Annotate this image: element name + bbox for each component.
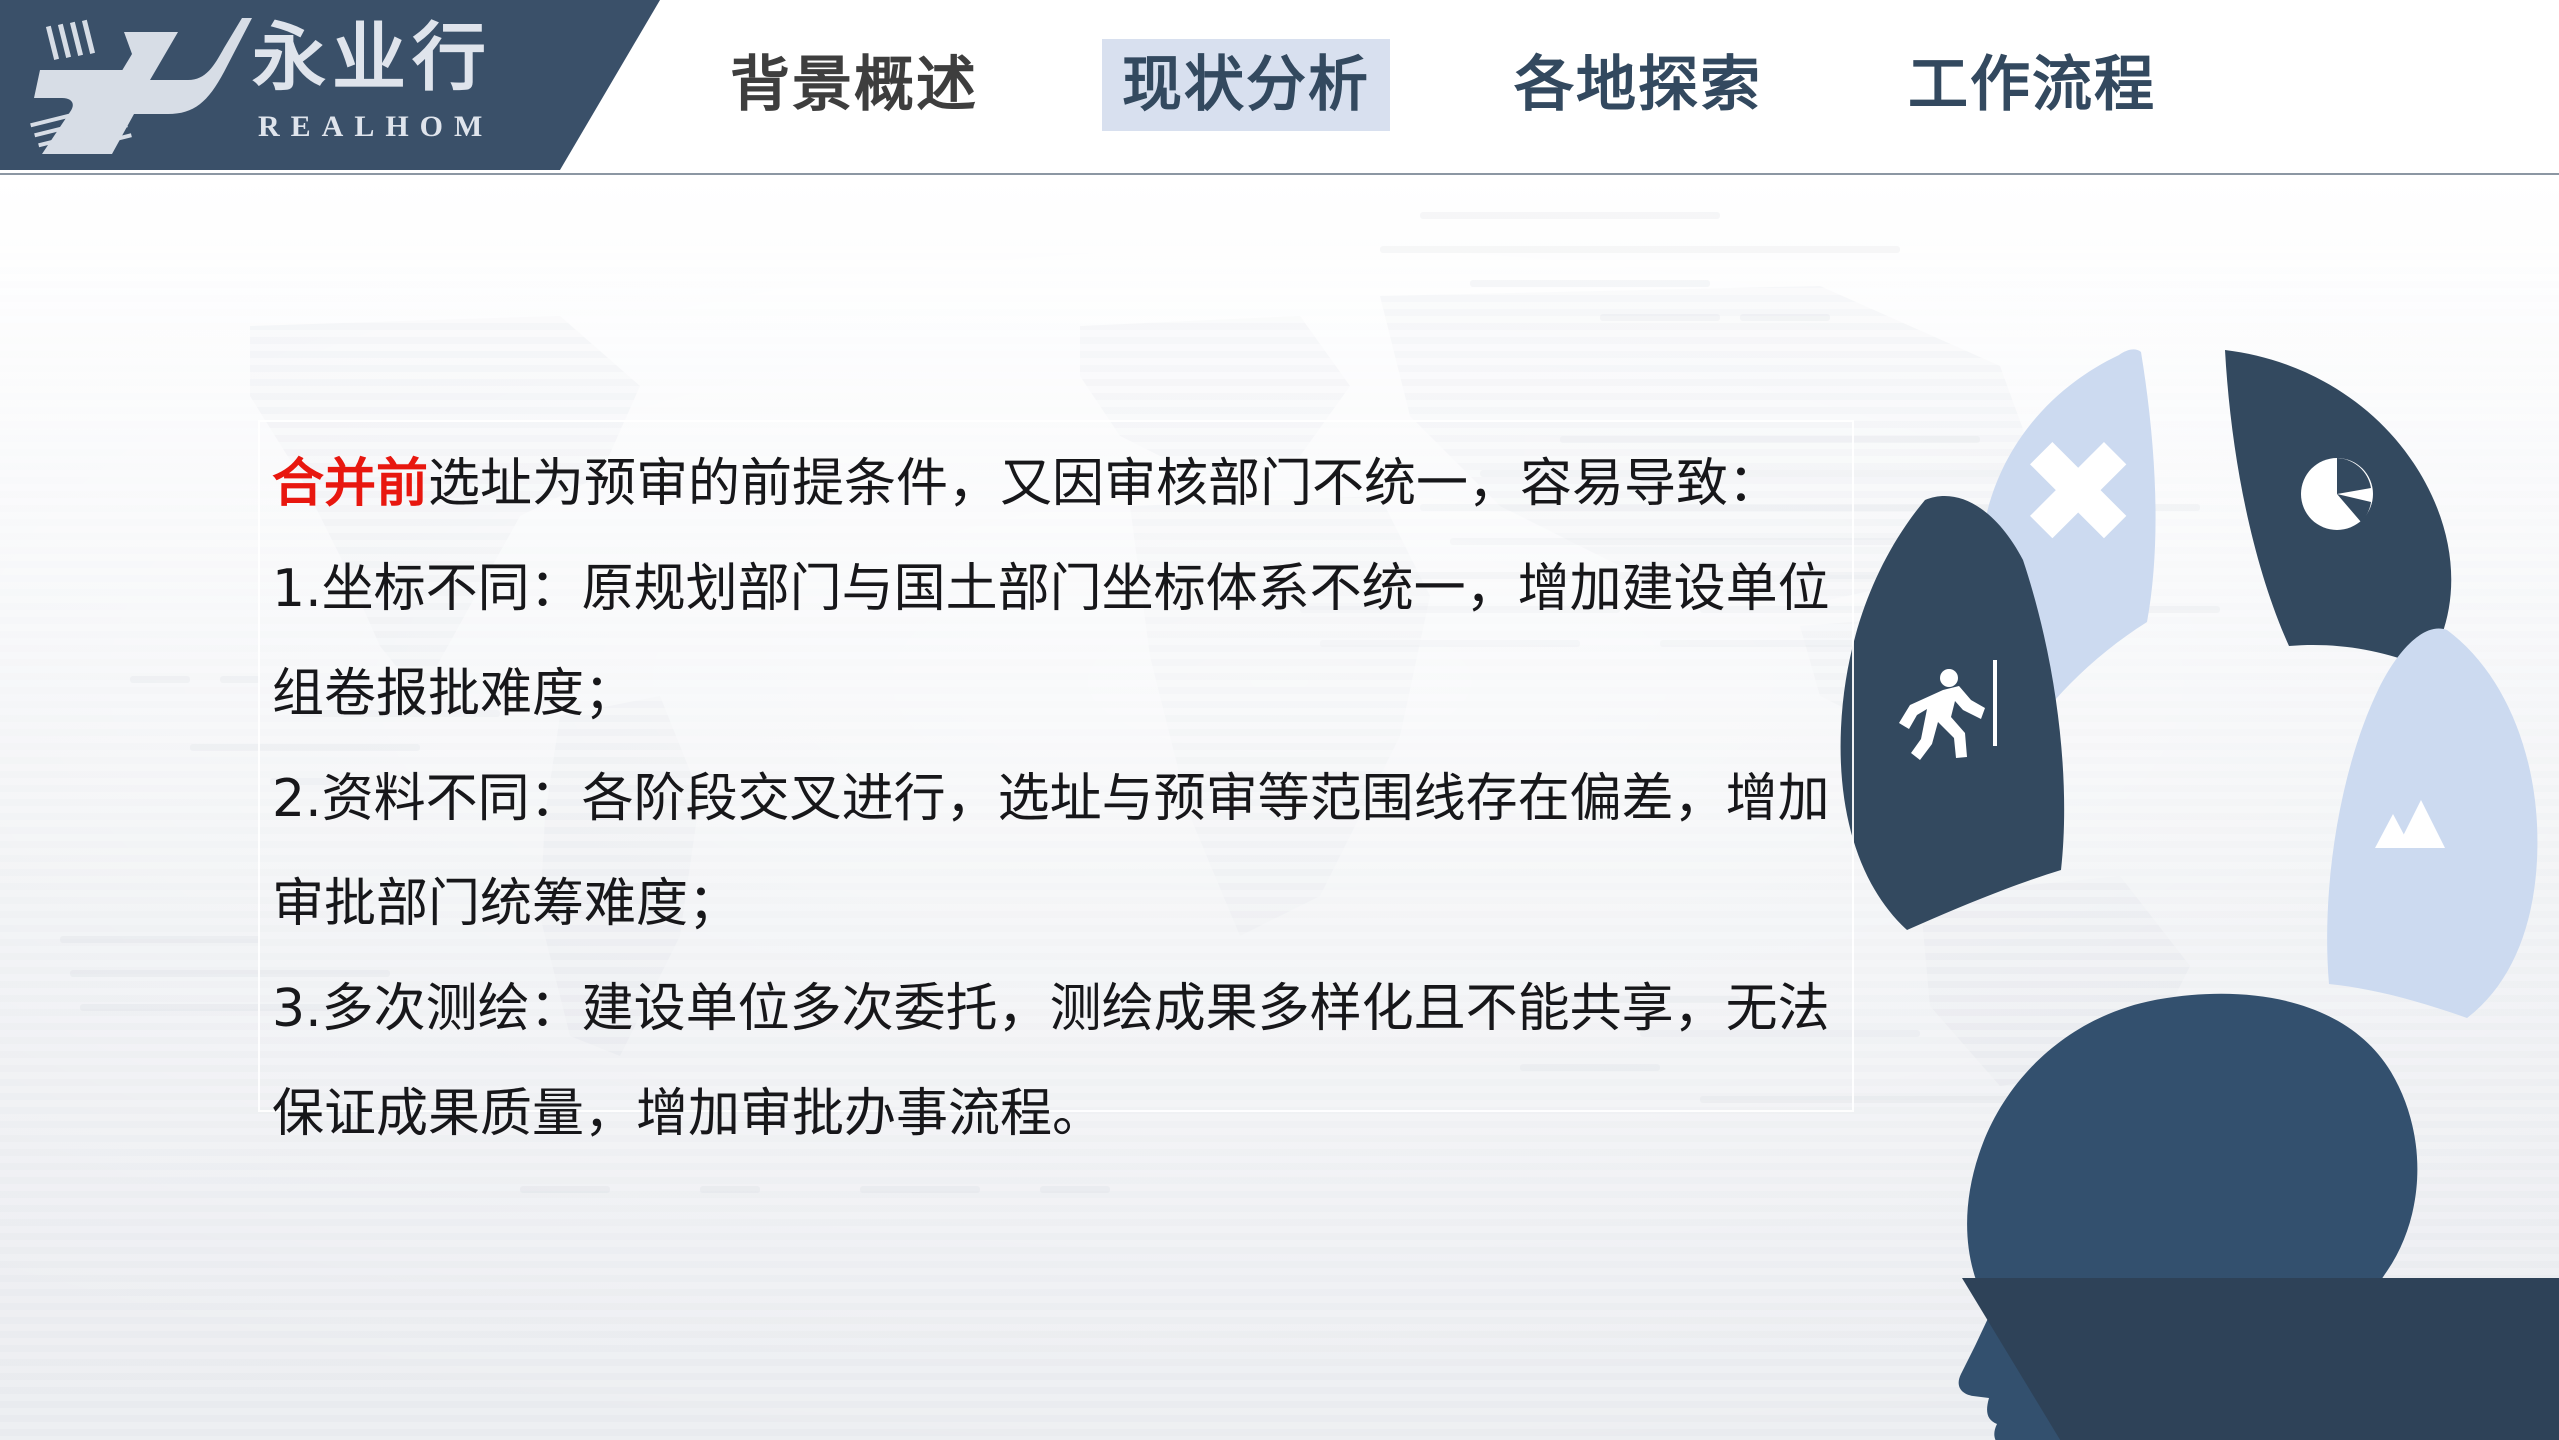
nav-item-current-analysis[interactable]: 现状分析 bbox=[1102, 39, 1390, 131]
content-intro-rest: 选址为预审的前提条件，又因审核部门不统一，容易导致： bbox=[428, 454, 1780, 514]
brand-name-en: REALHOM bbox=[258, 112, 538, 142]
content-text-block: 合并前选址为预审的前提条件，又因审核部门不统一，容易导致： 1.坐标不同：原规划… bbox=[272, 432, 1852, 1167]
content-line-3: 3.多次测绘：建设单位多次委托，测绘成果多样化且不能共享，无法保证成果质量，增加… bbox=[272, 957, 1852, 1167]
petal-pie-chart-icon bbox=[2225, 350, 2451, 668]
brand-logo-plate: 永业行 REALHOM bbox=[0, 0, 660, 170]
content-intro-highlight: 合并前 bbox=[272, 454, 428, 514]
content-line-1: 1.坐标不同：原规划部门与国土部门坐标体系不统一，增加建设单位组卷报批难度； bbox=[272, 537, 1852, 747]
slide-root: 合并前选址为预审的前提条件，又因审核部门不统一，容易导致： 1.坐标不同：原规划… bbox=[0, 0, 2559, 1440]
nav-item-background-overview[interactable]: 背景概述 bbox=[716, 39, 992, 131]
head-with-petals-graphic bbox=[1839, 300, 2559, 1440]
header-divider bbox=[0, 173, 2559, 175]
top-navigation: 背景概述 现状分析 各地探索 工作流程 bbox=[690, 0, 2559, 170]
slide-header: 永业行 REALHOM 背景概述 现状分析 各地探索 工作流程 bbox=[0, 0, 2559, 176]
content-line-2: 2.资料不同：各阶段交叉进行，选址与预审等范围线存在偏差，增加审批部门统筹难度； bbox=[272, 747, 1852, 957]
content-intro-line: 合并前选址为预审的前提条件，又因审核部门不统一，容易导致： bbox=[272, 432, 1852, 537]
yh-monogram-icon bbox=[28, 14, 258, 154]
shoulder-shape bbox=[1962, 1278, 2559, 1440]
petal-mountain-icon bbox=[2327, 629, 2537, 1018]
brand-name-cn: 永业行 bbox=[252, 16, 542, 108]
nav-item-work-process[interactable]: 工作流程 bbox=[1894, 39, 2170, 131]
nav-item-regional-exploration[interactable]: 各地探索 bbox=[1500, 39, 1776, 131]
